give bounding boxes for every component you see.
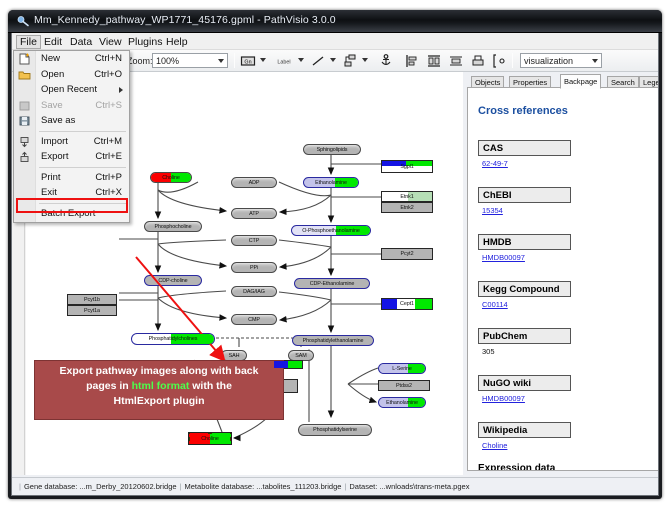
line-button[interactable] [310,53,326,69]
menu-item-accel: Ctrl+E [95,149,122,165]
menu-item-label: Open Recent [41,84,97,95]
align-cols-button[interactable] [448,53,464,69]
menu-item-new[interactable]: New Ctrl+N [14,51,129,67]
xref-db-label: HMDB [478,234,571,250]
zoom-label: Zoom: [127,56,153,66]
menu-item-label: Save as [41,115,75,126]
menu-data[interactable]: Data [66,35,96,49]
menu-view[interactable]: View [95,35,126,49]
file-menu-dropdown[interactable]: New Ctrl+N Open Ctrl+O Open Recent [13,50,130,223]
backpage-content: Cross references CAS 62-49-7 ChEBI 15354… [467,88,659,471]
menu-item-label: Open [41,69,64,80]
xref-value-link[interactable]: HMDB00097 [478,250,571,262]
xref-value-link[interactable]: 62-49-7 [478,156,571,168]
menu-item-accel: Ctrl+S [95,98,122,114]
gene-pemt[interactable] [273,360,303,369]
menu-item-batch-export[interactable]: Batch Export [14,206,129,222]
xref-wikipedia: Wikipedia Choline [478,422,571,450]
status-bar: |Gene database: ...m_Derby_20120602.brid… [12,477,658,495]
menu-item-label: Save [41,100,63,111]
svg-text:Label: Label [277,60,290,66]
xref-db-label: NuGO wiki [478,375,571,391]
menu-item-label: Import [41,136,68,147]
toolbar-separator-1 [234,53,235,68]
xref-hmdb: HMDB HMDB00097 [478,234,571,262]
window-client-area: File Edit Data View Plugins Help Zoom: 1… [11,33,659,496]
xref-value-link[interactable]: Choline [478,438,571,450]
save-as-disk-icon [18,115,31,127]
xref-kegg-compound: Kegg Compound C00114 [478,281,571,309]
zoom-combo[interactable]: 100% [152,53,228,68]
chevron-down-icon [218,59,224,63]
menu-separator-2 [39,167,126,168]
application-window: Mm_Kennedy_pathway_WP1771_45176.gpml - P… [8,10,662,499]
menu-item-label: Export [41,151,68,162]
menu-help[interactable]: Help [162,35,192,49]
svg-text:Gn: Gn [244,59,251,65]
xref-value-link[interactable]: C00114 [478,297,571,309]
menu-item-accel: Ctrl+N [95,51,122,67]
menu-item-save-as[interactable]: Save as [14,113,129,129]
xref-db-label: ChEBI [478,187,571,203]
menu-item-accel: Ctrl+M [94,134,122,150]
menu-bar: File Edit Data View Plugins Help [12,33,658,50]
interaction-dropdown-icon[interactable] [362,58,368,62]
xref-value-link[interactable]: HMDB00097 [478,391,571,403]
status-separator: | [16,482,24,491]
window-title: Mm_Kennedy_pathway_WP1771_45176.gpml - P… [34,14,336,26]
title-bar[interactable]: Mm_Kennedy_pathway_WP1771_45176.gpml - P… [8,10,662,33]
zoom-value: 100% [156,56,179,66]
anchor-button[interactable] [378,53,394,69]
toolbar-separator-2 [512,53,513,68]
xref-nugo-wiki: NuGO wiki HMDB00097 [478,375,571,403]
menu-item-open[interactable]: Open Ctrl+O [14,67,129,83]
visualization-value: visualization [524,56,573,66]
menu-item-export[interactable]: Export Ctrl+E [14,149,129,165]
chevron-down-icon [592,59,598,63]
datanode-dropdown-icon[interactable] [260,58,266,62]
screenshot-root: Mm_Kennedy_pathway_WP1771_45176.gpml - P… [0,0,670,509]
menu-item-exit[interactable]: Exit Ctrl+X [14,185,129,201]
status-dataset: Dataset: ...wnloads\trans-meta.pgex [349,482,469,491]
align-left-button[interactable] [404,53,420,69]
line-dropdown-icon[interactable] [330,58,336,62]
label-button[interactable]: Label [272,53,296,69]
xref-db-label: CAS [478,140,571,156]
xref-cas: CAS 62-49-7 [478,140,571,168]
new-document-icon [18,53,31,65]
group-button[interactable] [492,53,508,69]
menu-item-print[interactable]: Print Ctrl+P [14,170,129,186]
menu-separator-3 [39,203,126,204]
callout-line-2a: pages in [86,380,132,392]
side-panel: Objects Properties Backpage Search Legen… [464,72,659,475]
xref-pubchem: PubChem 305 [478,328,571,356]
menu-file[interactable]: File [16,35,41,49]
expression-data-title: Expression data [478,463,555,471]
node-choline[interactable]: Choline [150,172,192,183]
menu-item-save: Save Ctrl+S [14,98,129,114]
menu-plugins[interactable]: Plugins [124,35,166,49]
menu-item-accel: Ctrl+P [95,170,122,186]
export-icon [18,151,31,163]
menu-item-label: New [41,53,60,64]
status-separator: | [177,482,185,491]
interaction-button[interactable] [342,53,358,69]
menu-item-import[interactable]: Import Ctrl+M [14,134,129,150]
menu-item-open-recent[interactable]: Open Recent [14,82,129,98]
menu-item-label: Batch Export [41,208,95,219]
import-icon [18,136,31,148]
xref-chebi: ChEBI 15354 [478,187,571,215]
menu-item-accel: Ctrl+X [95,185,122,201]
menu-item-label: Print [41,172,61,183]
tab-backpage[interactable]: Backpage [560,74,601,89]
menu-item-accel: Ctrl+O [94,67,122,83]
visualization-combo[interactable]: visualization [520,53,602,68]
status-gene-database: Gene database: ...m_Derby_20120602.bridg… [24,482,177,491]
open-folder-icon [18,69,31,81]
datanode-button[interactable]: Gn [240,53,256,69]
stack-button[interactable] [470,53,486,69]
callout-highlight: html format [132,380,190,392]
pathvisio-icon [17,15,30,28]
menu-item-label: Exit [41,187,57,198]
annotation-callout: Export pathway images along with back pa… [34,360,284,420]
xref-db-label: Wikipedia [478,422,571,438]
menu-edit[interactable]: Edit [40,35,66,49]
save-disk-icon [18,100,31,112]
callout-line-3: HtmlExport plugin [39,394,279,409]
callout-line-1: Export pathway images along with back [39,364,279,379]
status-metabolite-database: Metabolite database: ...tabolites_111203… [185,482,342,491]
side-panel-tabs: Objects Properties Backpage Search Legen… [467,74,659,88]
xref-db-label: PubChem [478,328,571,344]
callout-line-2c: with the [189,380,232,392]
xref-value-link[interactable]: 15354 [478,203,571,215]
chevron-right-icon [119,87,123,93]
xref-value-text: 305 [478,344,571,356]
node-choline-selected[interactable]: Choline [188,432,232,445]
menu-separator-1 [39,131,126,132]
xref-db-label: Kegg Compound [478,281,571,297]
callout-line-2: pages in html format with the [39,379,279,394]
label-dropdown-icon[interactable] [298,58,304,62]
cross-references-title: Cross references [478,105,568,117]
align-rows-button[interactable] [426,53,442,69]
